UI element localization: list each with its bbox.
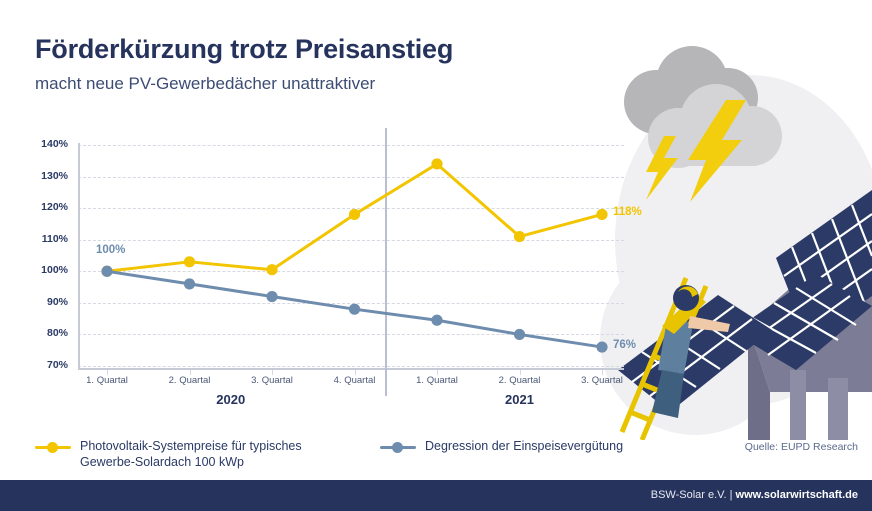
- data-point-marker[interactable]: [514, 329, 525, 340]
- data-point-marker[interactable]: [431, 158, 442, 169]
- legend-marker-yellow-icon: [35, 440, 71, 454]
- legend-marker-blue-icon: [380, 440, 416, 454]
- legend-label-pv-prices: Photovoltaik-Systempreise für typisches …: [80, 438, 340, 470]
- footer-org: BSW-Solar e.V. |: [651, 489, 736, 501]
- legend-item-pv-prices[interactable]: Photovoltaik-Systempreise für typisches …: [35, 438, 340, 470]
- source-attribution: Quelle: EUPD Research: [745, 441, 858, 453]
- chart-series-svg: [0, 0, 660, 420]
- data-point-marker[interactable]: [184, 278, 195, 289]
- annotation-end-yellow: 118%: [613, 206, 642, 218]
- annotation-end-blue: 76%: [613, 339, 636, 351]
- data-point-marker[interactable]: [101, 266, 112, 277]
- data-point-marker[interactable]: [596, 341, 607, 352]
- chart-container: 140%130%120%110%100%90%80%70% 1. Quartal…: [0, 0, 660, 420]
- data-point-marker[interactable]: [596, 209, 607, 220]
- legend-label-degression: Degression der Einspeisevergütung: [425, 438, 623, 454]
- footer-top-rule: [0, 477, 872, 480]
- data-point-marker[interactable]: [349, 304, 360, 315]
- data-point-marker[interactable]: [349, 209, 360, 220]
- infographic-root: Förderkürzung trotz Preisanstieg macht n…: [0, 0, 872, 511]
- data-point-marker[interactable]: [184, 256, 195, 267]
- footer-credit: BSW-Solar e.V. | www.solarwirtschaft.de: [651, 489, 858, 501]
- data-point-marker[interactable]: [514, 231, 525, 242]
- legend-item-degression[interactable]: Degression der Einspeisevergütung: [380, 438, 623, 454]
- data-point-marker[interactable]: [266, 264, 277, 275]
- data-point-marker[interactable]: [266, 291, 277, 302]
- footer-bar: BSW-Solar e.V. | www.solarwirtschaft.de: [0, 477, 872, 511]
- annotation-start-100: 100%: [96, 244, 125, 256]
- data-point-marker[interactable]: [431, 315, 442, 326]
- footer-url[interactable]: www.solarwirtschaft.de: [736, 489, 858, 501]
